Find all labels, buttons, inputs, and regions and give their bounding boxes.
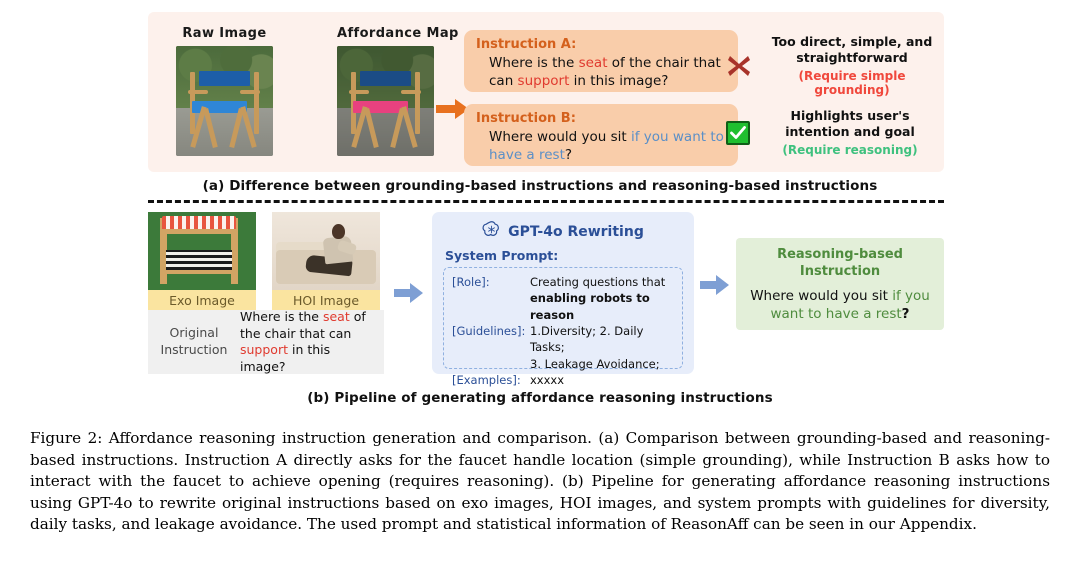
raw-image-column: Raw Image (176, 26, 273, 156)
prompt-key: [Role]: (452, 274, 530, 290)
exo-image-card: Exo Image (148, 212, 256, 312)
chair-arm-right (240, 90, 260, 94)
original-instruction-text: Where is the seat of the chair that can … (240, 309, 384, 375)
instruction-a-part-0: Where is the (489, 55, 579, 71)
chair-post-right (254, 72, 259, 134)
verdict-b-sub: (Require reasoning) (762, 143, 938, 157)
chair-arm-left (188, 90, 208, 94)
chair-arm-left (349, 90, 369, 94)
panel-b-caption: (b) Pipeline of generating affordance re… (0, 390, 1080, 406)
panel-a: Raw Image Afforda (148, 12, 944, 172)
prompt-value: Creating questions that (530, 274, 665, 290)
prompt-key: [Guidelines]: (452, 323, 530, 356)
exo-canopy-stripe (162, 216, 236, 229)
verdict-b-main: Highlights user's intention and goal (762, 108, 938, 139)
verdict-a-main: Too direct, simple, and straightforward (764, 34, 940, 65)
figure-2-container: Raw Image Afforda (0, 0, 1080, 564)
verdict-b: Highlights user's intention and goal (Re… (726, 108, 938, 157)
instruction-b-text: Where would you sit if you want to have … (476, 128, 726, 164)
exo-seat-slats (166, 250, 232, 270)
instruction-a-box: Instruction A: Where is the seat of the … (464, 30, 738, 92)
prompt-key: [Examples]: (452, 372, 530, 388)
system-prompt-box: [Role]: Creating questions that enabling… (443, 267, 683, 369)
reasoning-instruction-text: Where would you sit if you want to have … (746, 288, 934, 324)
person-head (332, 224, 345, 239)
instruction-b-box: Instruction B: Where would you sit if yo… (464, 104, 738, 166)
prompt-value-bold: enabling robots to reason (452, 290, 674, 323)
verdict-b-text: Highlights user's intention and goal (Re… (762, 108, 938, 157)
original-instruction-label-text: Original Instruction (161, 325, 228, 357)
panel-a-caption: (a) Difference between grounding-based i… (0, 178, 1080, 194)
gpt-panel-header: GPT-4o Rewriting (443, 220, 683, 243)
instruction-b-part-0: Where would you sit (489, 129, 631, 145)
raw-image-photo (176, 46, 273, 156)
arrow-right-icon (700, 274, 730, 296)
figure-caption: Figure 2: Affordance reasoning instructi… (30, 428, 1050, 536)
panel-b: Exo Image HOI Image Original Instruction… (148, 212, 944, 380)
reasoning-instruction-title-line1: Reasoning-based (746, 247, 934, 264)
prompt-row: [Examples]: xxxxx (452, 372, 674, 388)
original-instruction-label: Original Instruction (148, 325, 240, 359)
result-part-2: ? (902, 306, 910, 322)
arrow-right-icon (394, 282, 424, 304)
prompt-value-cont: 3. Leakage Avoidance; (452, 356, 674, 372)
instruction-b-part-2: ? (565, 147, 572, 163)
prompt-row: [Role]: Creating questions that (452, 274, 674, 290)
result-part-0: Where would you sit (750, 288, 892, 304)
instruction-a-part-4: in this image? (569, 73, 668, 89)
check-icon (726, 121, 750, 145)
chair-backrest (199, 71, 249, 85)
section-divider (148, 200, 944, 203)
openai-logo-icon (482, 220, 501, 243)
chair-post-right (415, 72, 420, 134)
affordance-map-photo (337, 46, 434, 156)
gpt-panel-title: GPT-4o Rewriting (508, 224, 644, 240)
hoi-image-card: HOI Image (272, 212, 380, 312)
orig-part-1: seat (323, 309, 350, 324)
hoi-image-photo (272, 212, 380, 290)
prompt-value: 1.Diversity; 2. Daily Tasks; (530, 323, 674, 356)
instruction-a-label: Instruction A: (476, 37, 726, 52)
verdict-a-text: Too direct, simple, and straightforward … (764, 34, 940, 97)
raw-image-title: Raw Image (176, 26, 273, 41)
chair-backrest (360, 71, 410, 85)
instruction-a-part-1: seat (579, 55, 608, 71)
cross-icon (726, 53, 752, 79)
instruction-b-label: Instruction B: (476, 111, 726, 126)
affordance-map-column: Affordance Map (337, 26, 459, 156)
system-prompt-label: System Prompt: (445, 248, 683, 263)
orig-part-3: support (240, 342, 288, 357)
instruction-a-part-3: support (518, 73, 570, 89)
gpt-rewriting-panel: GPT-4o Rewriting System Prompt: [Role]: … (432, 212, 694, 374)
orig-part-0: Where is the (240, 309, 323, 324)
prompt-row: [Guidelines]: 1.Diversity; 2. Daily Task… (452, 323, 674, 356)
exo-image-photo (148, 212, 256, 290)
verdict-a: Too direct, simple, and straightforward … (726, 34, 940, 97)
chair-arm-right (401, 90, 421, 94)
prompt-value: xxxxx (530, 372, 564, 388)
verdict-a-sub: (Require simple grounding) (764, 69, 940, 97)
instruction-a-text: Where is the seat of the chair that can … (476, 54, 726, 90)
original-instruction-box: Original Instruction Where is the seat o… (148, 310, 384, 374)
reasoning-instruction-title-line2: Instruction (746, 264, 934, 281)
reasoning-instruction-panel: Reasoning-based Instruction Where would … (736, 238, 944, 330)
affordance-map-title: Affordance Map (337, 26, 459, 41)
